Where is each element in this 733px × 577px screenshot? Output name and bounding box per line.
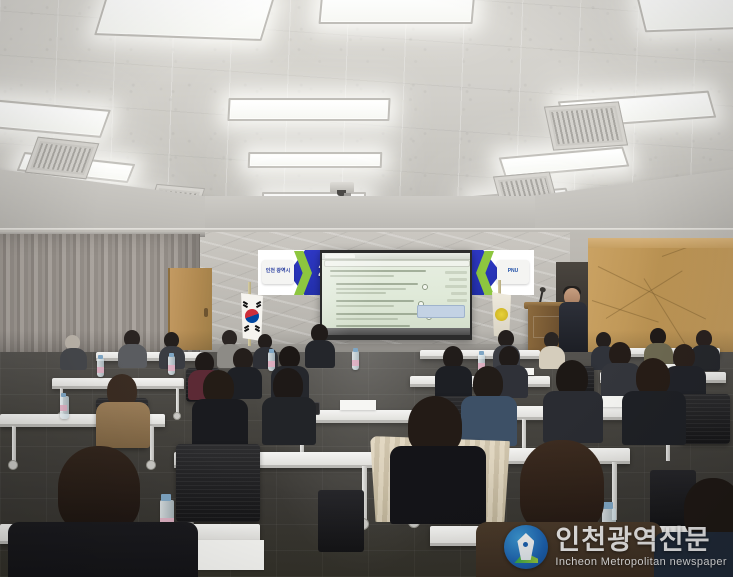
ceiling-light <box>227 98 390 121</box>
taeguk-symbol <box>245 309 259 323</box>
ceiling-light <box>94 0 275 41</box>
banner-chevron-left-icon <box>294 251 312 295</box>
table-row <box>96 352 206 361</box>
watermark: 인천광역신문 Incheon Metropolitan newspaper <box>504 525 727 569</box>
banner-logo-right: PNU <box>497 260 529 284</box>
presenter <box>559 302 587 356</box>
projection-screen-frame <box>320 250 472 340</box>
watermark-korean-title: 인천광역신문 <box>555 527 727 554</box>
water-bottle <box>168 356 175 375</box>
institution-emblem-icon <box>495 308 508 321</box>
handbag <box>318 490 364 552</box>
chair <box>680 394 730 444</box>
water-bottle <box>352 351 359 370</box>
ceiling-light <box>319 0 476 24</box>
chair <box>176 444 260 522</box>
banner-chevron-right-icon <box>476 251 494 295</box>
hvac-vent <box>544 101 628 150</box>
ceiling-light <box>248 152 383 168</box>
ceiling-camera-icon <box>330 182 354 193</box>
ceiling-light <box>636 0 733 32</box>
banner-logo-left: 인천 광역시 <box>262 260 294 284</box>
browser-address-bar <box>324 260 470 267</box>
watermark-english-subtitle: Incheon Metropolitan newspaper <box>555 557 727 568</box>
screen-submit-button <box>417 305 465 318</box>
water-bottle <box>97 358 104 377</box>
browser-tab <box>325 254 355 258</box>
watermark-text: 인천광역신문 Incheon Metropolitan newspaper <box>555 527 727 568</box>
korean-flag <box>241 293 263 341</box>
document-sheet <box>198 540 264 570</box>
screen-taskbar <box>322 328 470 335</box>
document-sheet <box>340 400 376 410</box>
newspaper-logo-icon <box>504 525 548 569</box>
water-bottle <box>60 396 69 419</box>
seminar-room-photo: 인천 광역시 PNU 202 교육 <box>0 0 733 577</box>
projection-screen <box>322 253 470 335</box>
hvac-vent <box>25 137 100 180</box>
